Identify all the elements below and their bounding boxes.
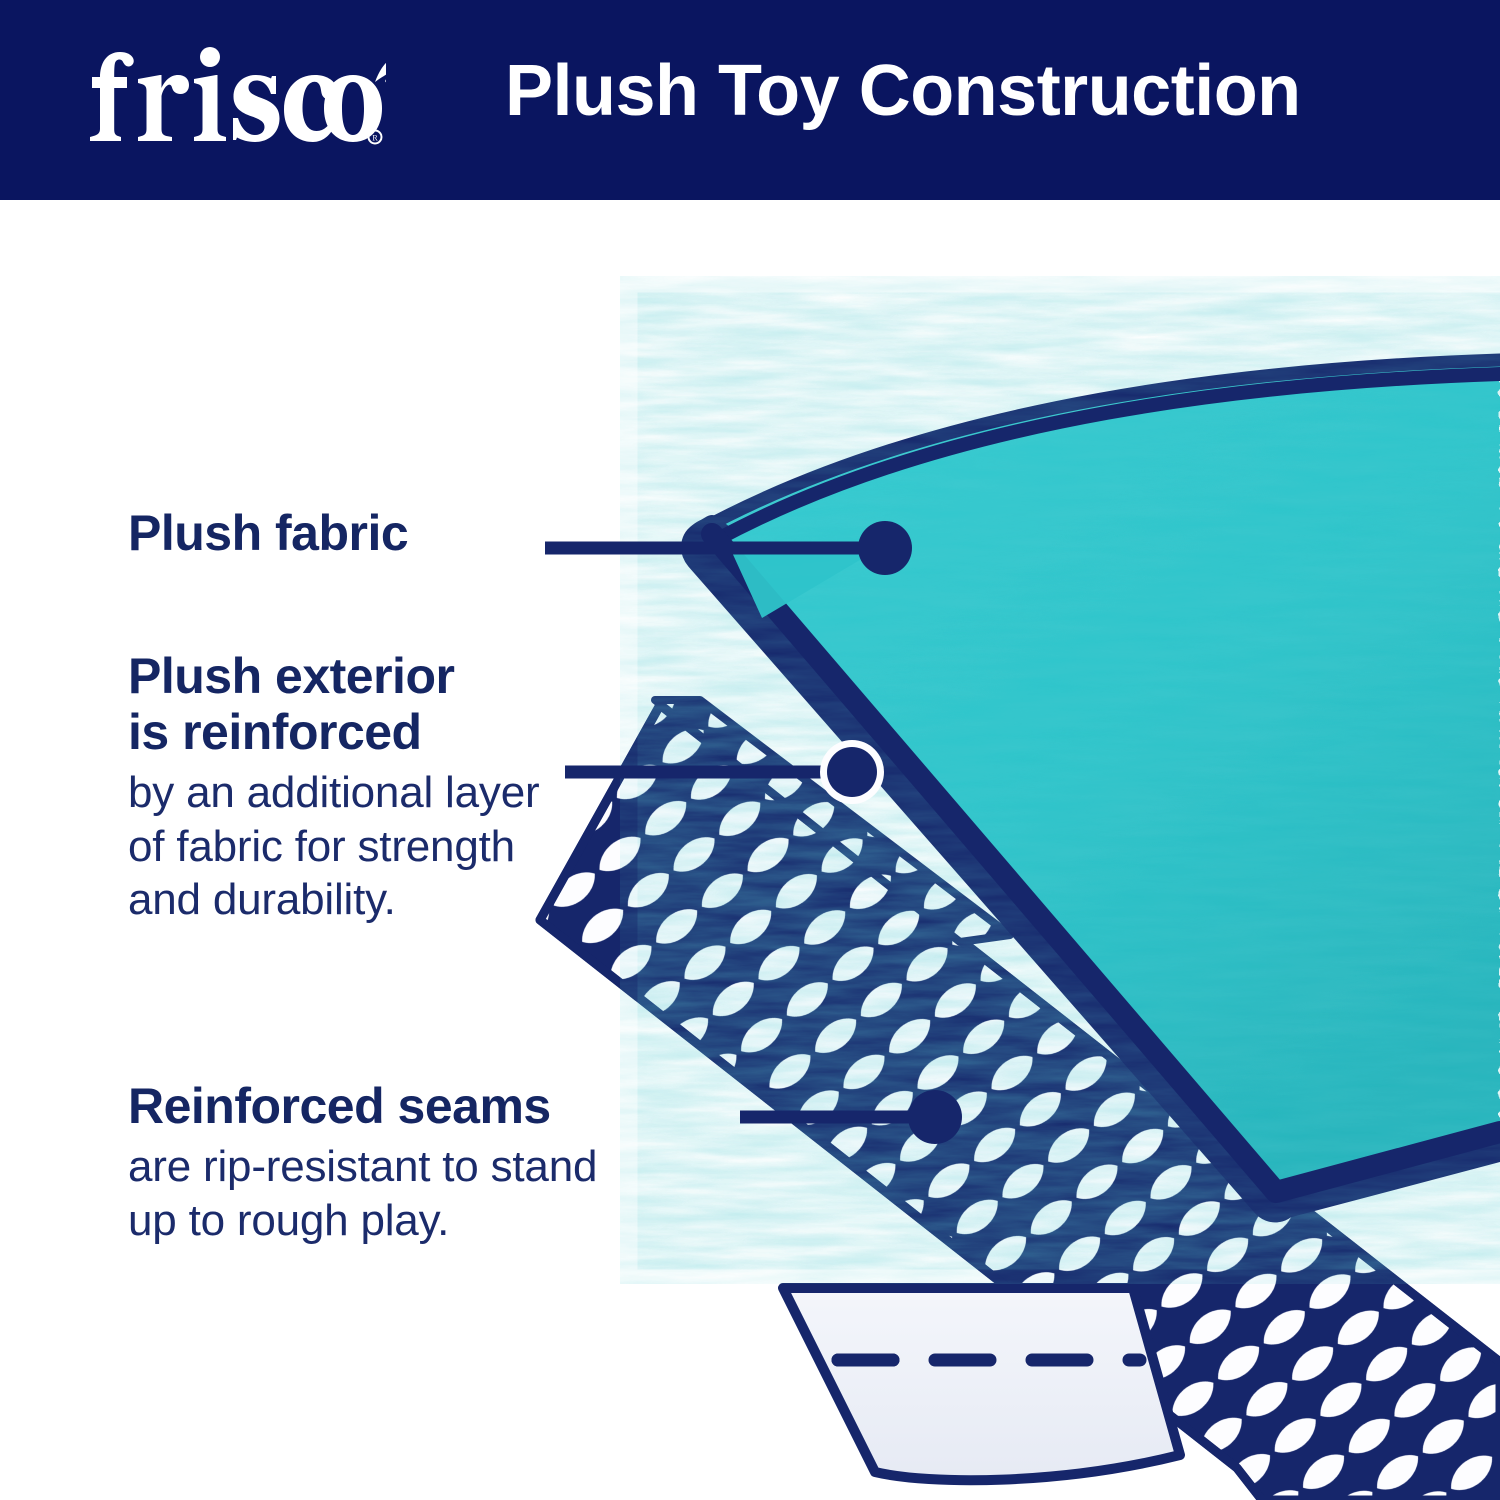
leader-dot-plush-exterior [827, 747, 877, 797]
callout-heading-line-1: Plush exterior [128, 648, 539, 704]
infographic-page: R Plush Toy Construction [0, 0, 1500, 1500]
callout-body-line-3: and durability. [128, 873, 539, 927]
leader-dot-plush-fabric [858, 521, 912, 575]
callout-body-line-2: up to rough play. [128, 1194, 597, 1248]
callout-body: are rip-resistant to stand up to rough p… [128, 1140, 597, 1247]
callout-body-line-1: by an additional layer [128, 766, 539, 820]
callout-plush-fabric: Plush fabric [128, 505, 408, 561]
leader-dot-reinforced-seams [908, 1090, 962, 1144]
callout-body: by an additional layer of fabric for str… [128, 766, 539, 927]
callout-heading: Plush fabric [128, 505, 408, 561]
svg-text:R: R [372, 134, 378, 143]
seam-flap [783, 1288, 1180, 1480]
page-title: Plush Toy Construction [505, 50, 1301, 132]
callout-body-line-1: are rip-resistant to stand [128, 1140, 597, 1194]
callout-heading: Reinforced seams [128, 1078, 597, 1134]
callout-reinforced-seams: Reinforced seams are rip-resistant to st… [128, 1078, 597, 1247]
frisco-logo: R [86, 44, 386, 154]
callout-plush-exterior: Plush exterior is reinforced by an addit… [128, 648, 539, 927]
callout-heading-line-2: is reinforced [128, 704, 539, 760]
header-bar: R Plush Toy Construction [0, 0, 1500, 200]
callout-body-line-2: of fabric for strength [128, 820, 539, 874]
